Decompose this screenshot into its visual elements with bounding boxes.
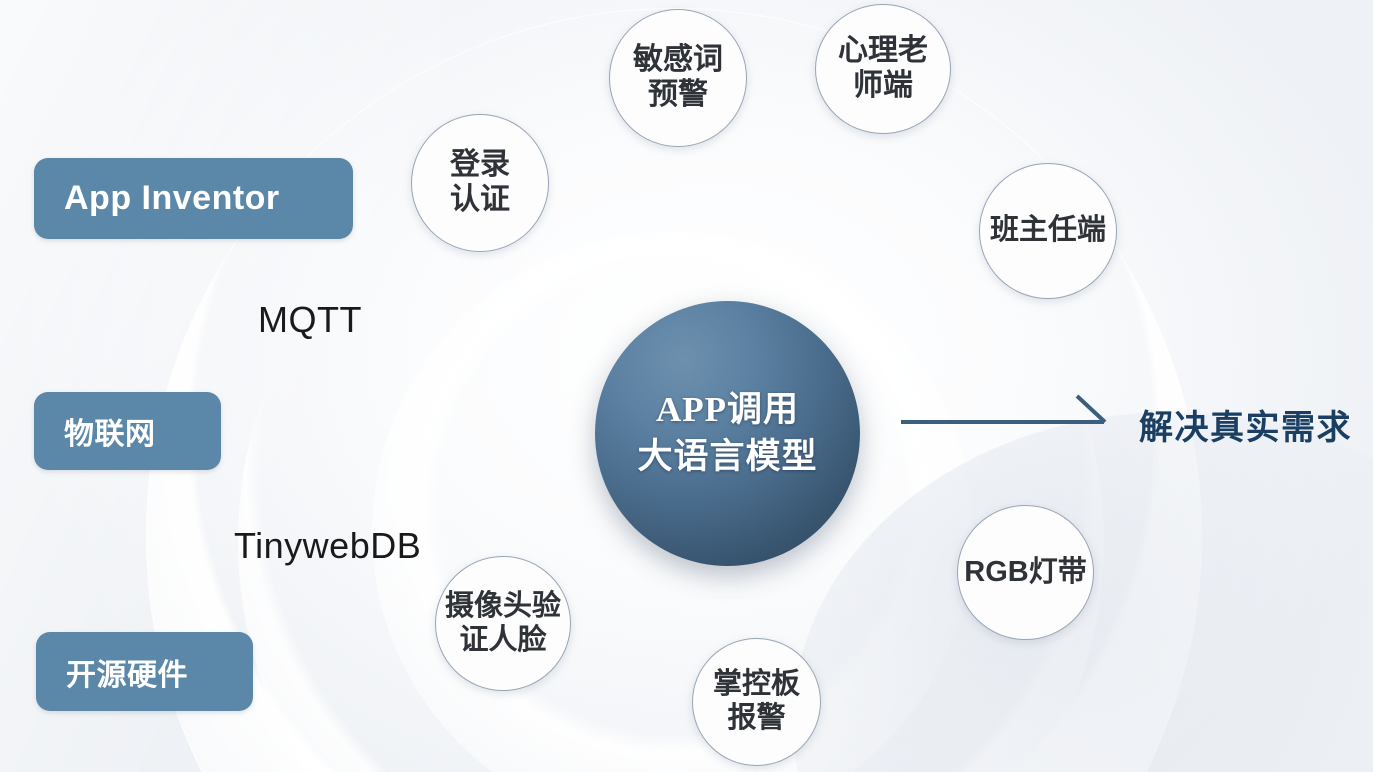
core-sphere-line2: 大语言模型 (637, 434, 817, 480)
outcome-label: 解决真实需求 (1139, 400, 1352, 449)
protocol-label-tinywebdb: TinywebDB (234, 525, 421, 567)
bubble-login-auth[interactable]: 登录 认证 (411, 114, 549, 252)
bubble-sensitive-word-alert-line2: 预警 (633, 78, 723, 113)
tag-iot[interactable]: 物联网 (34, 392, 221, 470)
bubble-head-teacher-client[interactable]: 班主任端 (979, 163, 1117, 299)
core-sphere-app-calls-llm[interactable]: APP调用 大语言模型 (595, 301, 860, 566)
bubble-control-board-alarm-line1: 掌控板 (713, 668, 800, 702)
bubble-rgb-light-strip-line1: RGB灯带 (964, 556, 1086, 590)
bubble-control-board-alarm[interactable]: 掌控板 报警 (692, 638, 821, 766)
right-arrow-icon (899, 392, 1111, 436)
bubble-counselor-client[interactable]: 心理老 师端 (815, 4, 951, 134)
bubble-camera-face-verification-line1: 摄像头验 (445, 590, 561, 624)
tag-open-source-hardware[interactable]: 开源硬件 (36, 632, 253, 711)
bubble-control-board-alarm-line2: 报警 (713, 702, 800, 736)
bubble-head-teacher-client-line1: 班主任端 (990, 214, 1106, 248)
core-sphere-line1: APP调用 (656, 387, 799, 433)
diagram-canvas: App Inventor 物联网 开源硬件 MQTT TinywebDB 登录 … (0, 0, 1373, 772)
bubble-camera-face-verification-line2: 证人脸 (445, 624, 561, 658)
tag-open-source-hardware-label: 开源硬件 (66, 650, 188, 694)
bubble-login-auth-line1: 登录 (450, 148, 510, 183)
tag-app-inventor[interactable]: App Inventor (34, 158, 353, 239)
tag-iot-label: 物联网 (64, 409, 156, 453)
bubble-counselor-client-line1: 心理老 (838, 34, 928, 69)
bubble-sensitive-word-alert[interactable]: 敏感词 预警 (609, 9, 747, 147)
protocol-label-mqtt: MQTT (258, 299, 362, 341)
bubble-camera-face-verification[interactable]: 摄像头验 证人脸 (435, 556, 571, 691)
bubble-login-auth-line2: 认证 (450, 183, 510, 218)
bubble-sensitive-word-alert-line1: 敏感词 (633, 43, 723, 78)
bubble-counselor-client-line2: 师端 (838, 69, 928, 104)
bubble-rgb-light-strip[interactable]: RGB灯带 (957, 505, 1094, 640)
tag-app-inventor-label: App Inventor (64, 179, 280, 218)
